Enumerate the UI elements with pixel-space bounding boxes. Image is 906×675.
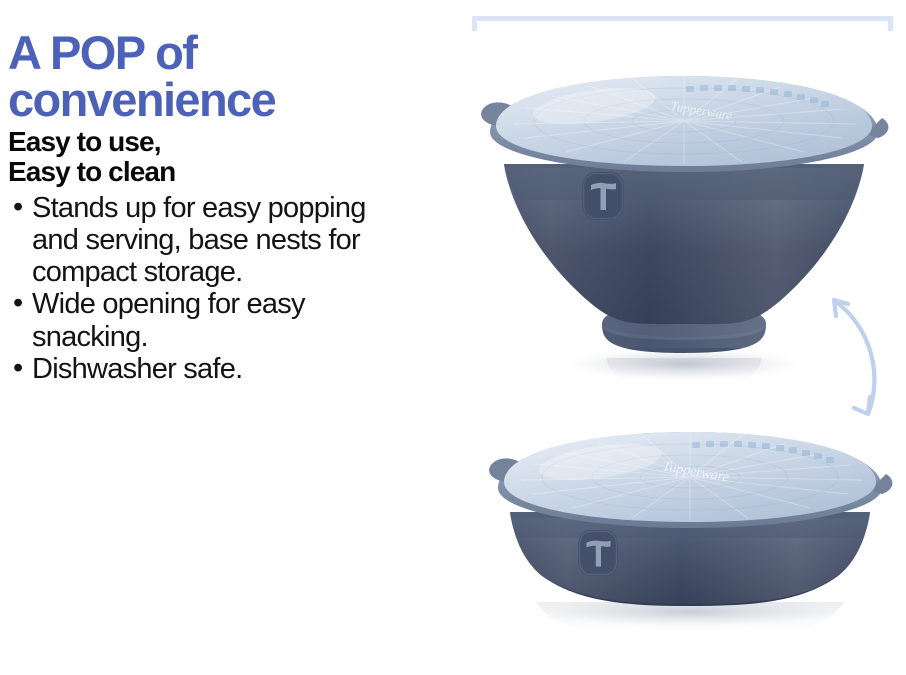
- measurement-bracket: [472, 16, 893, 32]
- subtitle: Easy to use, Easy to clean: [8, 127, 406, 187]
- bullet-icon: •: [13, 191, 22, 223]
- list-item-label: Stands up for easy popping and serving, …: [32, 192, 366, 289]
- bracket-tick-right: [888, 16, 893, 31]
- collapsed-bowl: Tupperware: [484, 426, 896, 656]
- list-item: • Wide opening for easy snacking.: [8, 288, 406, 353]
- tupperware-logo: [578, 530, 618, 576]
- tupperware-logo: [582, 172, 624, 220]
- page-title: A POP of convenience: [8, 30, 406, 123]
- bullet-icon: •: [13, 352, 22, 384]
- poster-canvas: A POP of convenience Easy to use, Easy t…: [0, 0, 906, 675]
- list-item: • Stands up for easy popping and serving…: [8, 192, 406, 289]
- bracket-bar: [472, 16, 893, 21]
- list-item-label: Dishwasher safe.: [32, 353, 242, 385]
- bullet-icon: •: [13, 287, 22, 319]
- bracket-tick-left: [472, 16, 477, 31]
- list-item: • Dishwasher safe.: [8, 353, 406, 385]
- list-item-label: Wide opening for easy snacking.: [32, 288, 305, 352]
- marketing-copy: A POP of convenience Easy to use, Easy t…: [6, 30, 406, 385]
- collapse-expand-arrow: [812, 278, 904, 430]
- feature-list: • Stands up for easy popping and serving…: [6, 192, 406, 386]
